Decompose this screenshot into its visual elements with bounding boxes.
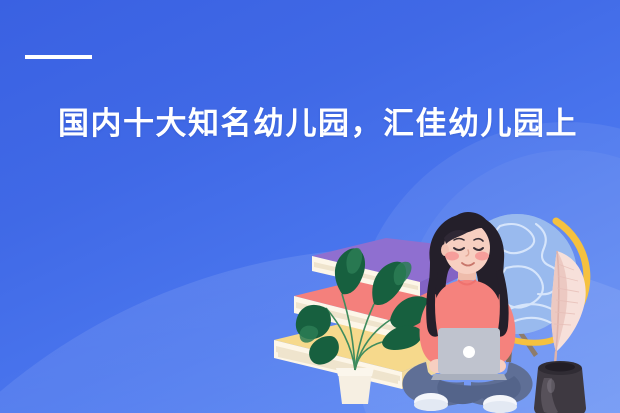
title-accent-rule bbox=[25, 55, 92, 59]
student-reading-illustration bbox=[268, 176, 620, 413]
page-title: 国内十大知名幼儿园，汇佳幼儿园上 bbox=[58, 104, 578, 144]
article-hero-banner: 国内十大知名幼儿园，汇佳幼儿园上 bbox=[0, 0, 620, 413]
laptop-icon bbox=[431, 328, 507, 380]
